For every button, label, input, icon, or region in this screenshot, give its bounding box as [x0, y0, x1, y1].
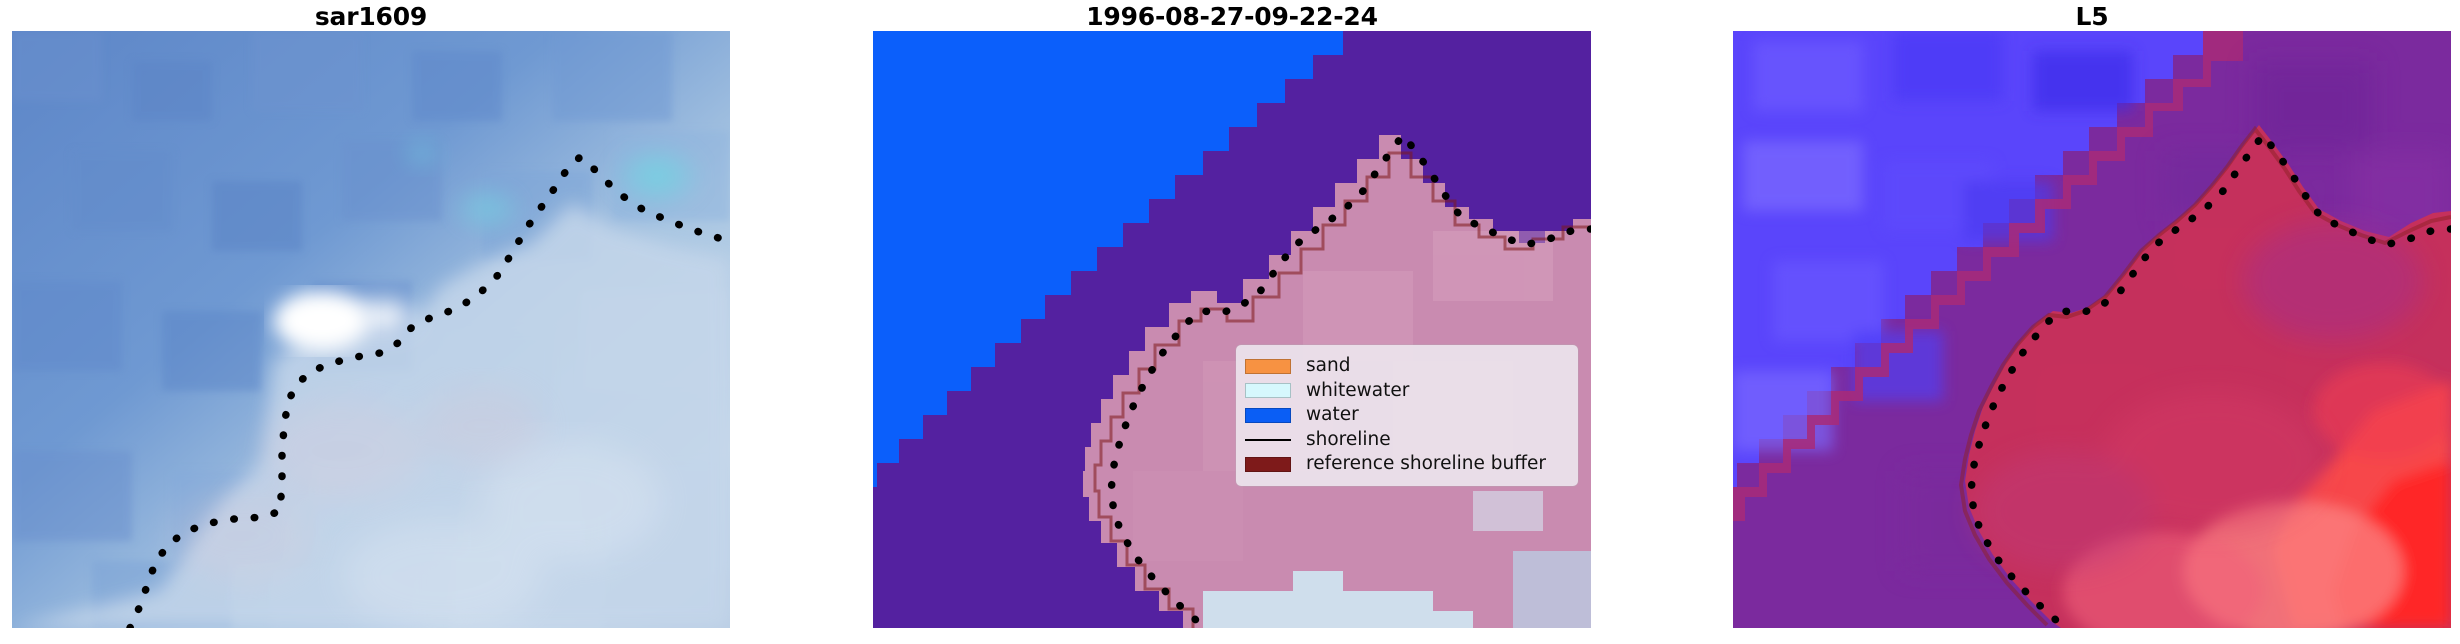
legend-item-sand[interactable]: sand [1245, 354, 1568, 379]
legend-label-shoreline: shoreline [1306, 430, 1391, 450]
sar-image-panel[interactable] [12, 31, 730, 628]
reference-buffer-color-swatch-icon [1245, 457, 1291, 472]
legend-label-water: water [1306, 405, 1359, 425]
legend-swatch-wrap [1245, 359, 1293, 374]
whitewater-color-swatch-icon [1245, 383, 1291, 398]
l5-shoreline-dotted [1971, 135, 2451, 628]
legend-item-whitewater[interactable]: whitewater [1245, 379, 1568, 404]
l5-image-panel[interactable] [1733, 31, 2451, 628]
sar-shoreline-dotted [130, 157, 730, 628]
legend-box: sand whitewater water shoreline [1236, 345, 1578, 486]
panel-title-sar: sar1609 [12, 4, 730, 30]
legend-label-whitewater: whitewater [1306, 381, 1409, 401]
legend-swatch-wrap [1245, 408, 1293, 423]
l5-shoreline-overlay [1733, 31, 2451, 628]
classified-shoreline-overlay [873, 31, 1591, 628]
legend-item-water[interactable]: water [1245, 403, 1568, 428]
legend-item-shoreline[interactable]: shoreline [1245, 428, 1568, 453]
sand-color-swatch-icon [1245, 359, 1291, 374]
legend-swatch-wrap [1245, 383, 1293, 398]
water-color-swatch-icon [1245, 408, 1291, 423]
legend-item-reference-shoreline-buffer[interactable]: reference shoreline buffer [1245, 452, 1568, 477]
sar-shoreline-overlay [12, 31, 730, 628]
legend-swatch-wrap [1245, 439, 1293, 441]
legend-label-reference-shoreline-buffer: reference shoreline buffer [1306, 454, 1546, 474]
legend-swatch-wrap [1245, 457, 1293, 472]
figure-canvas: sar1609 1996-08-27-09-22-24 L5 [0, 0, 2460, 644]
legend-label-sand: sand [1306, 356, 1350, 376]
classified-image-panel[interactable]: sand whitewater water shoreline [873, 31, 1591, 628]
panel-title-l5: L5 [1733, 4, 2451, 30]
shoreline-line-swatch-icon [1245, 439, 1291, 441]
panel-title-classified: 1996-08-27-09-22-24 [873, 4, 1591, 30]
